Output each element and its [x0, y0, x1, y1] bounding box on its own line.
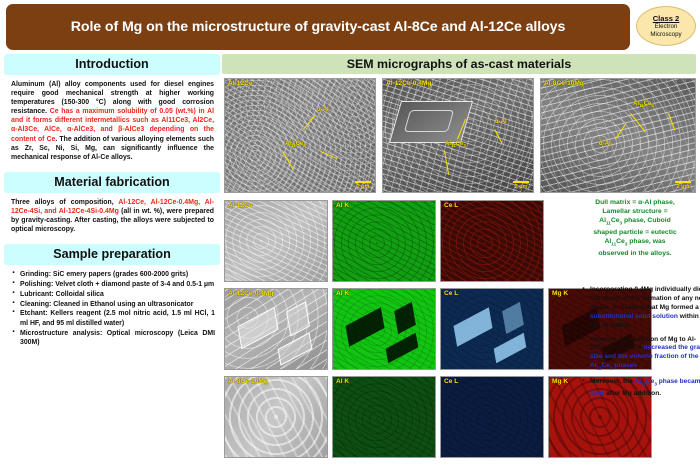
eds-map-label: Ce L — [444, 202, 458, 209]
micrograph-label: Al-12Ce — [228, 80, 253, 87]
annotation-al11ce3: Al11Ce3 — [285, 141, 306, 148]
eds-map-ce-l-row1: Ce L — [440, 200, 544, 282]
micrograph-al12ce: Al-12Ce α-Al Al11Ce3 2 µm — [224, 78, 376, 193]
annotation-alpha-al: α-Al — [495, 119, 507, 125]
micrograph-label: Al-8Ce-10Mg — [544, 80, 584, 87]
annotation-al11ce3: Al11Ce3 — [633, 101, 654, 108]
introduction-text: Aluminum (Al) alloy components used for … — [4, 80, 220, 162]
class-badge: Class 2 ElectronMicroscopy — [636, 6, 696, 46]
annotation-alpha-al: α-Al — [317, 107, 329, 113]
class-badge-subtitle: ElectronMicroscopy — [650, 23, 681, 38]
micrograph-al8ce-10mg: Al-8Ce-10Mg Al11Ce3 α-Al 2 µm — [540, 78, 696, 193]
scale-bar-line — [513, 181, 529, 183]
list-item: Microstructure analysis: Optical microsc… — [20, 329, 215, 348]
scale-bar-line — [355, 181, 371, 183]
eds-map-label: Mg K — [552, 290, 568, 297]
preparation-list: Grinding: SiC emery papers (grades 600-2… — [4, 270, 220, 347]
micrograph-grain — [225, 377, 327, 457]
micrograph-label: Al-12Ce-0.4Mg — [228, 290, 273, 297]
eds-map-ce-l-row3: Ce L — [440, 376, 544, 458]
list-item: Polishing: Velvet cloth + diamond paste … — [20, 280, 215, 289]
poster-title-bar: Role of Mg on the microstructure of grav… — [6, 4, 630, 50]
micrograph-label: Al-8Ce-10Mg — [228, 378, 268, 385]
list-item: Lubricant: Colloidal silica — [20, 290, 215, 299]
eds-texture — [332, 376, 436, 458]
page-title: Role of Mg on the microstructure of grav… — [71, 19, 566, 36]
eds-row1-sem: Al-12Ce — [224, 200, 328, 282]
class-badge-title: Class 2 — [653, 14, 680, 23]
sem-section-header: SEM micrographs of as-cast materials — [222, 54, 696, 74]
list-item: However, the addition of Mg to Al-12Ce a… — [590, 336, 700, 374]
micrograph-grain — [225, 79, 375, 192]
scale-bar-al12ce-04mg: 2 µm — [513, 181, 529, 190]
fabrication-text: Three alloys of composition, Al-12Ce, Al… — [4, 198, 220, 234]
micrograph-label: Al-12Ce-0.4Mg — [386, 80, 431, 87]
eds-map-label: Mg K — [552, 378, 568, 385]
eds-map-label: Al K — [336, 202, 349, 209]
eds-texture — [440, 376, 544, 458]
eds-map-al-k-row3: Al K — [332, 376, 436, 458]
list-item: Cleaning: Cleaned in Ethanol using an ul… — [20, 300, 215, 309]
list-item: Grinding: SiC emery papers (grades 600-2… — [20, 270, 215, 279]
conclusion-text: Dull matrix = α-Al phase, Lamellar struc… — [572, 198, 698, 258]
scale-bar-al8ce-10mg: 2 µm — [675, 181, 691, 190]
eds-row2-sem: Al-12Ce-0.4Mg — [224, 288, 328, 370]
list-item: Moreover, the Al11Ce3 phase became finer… — [590, 378, 700, 398]
introduction-heading: Introduction — [4, 54, 220, 75]
fabrication-heading: Material fabrication — [4, 172, 220, 193]
eds-texture — [332, 200, 436, 282]
scale-bar-line — [675, 181, 691, 183]
eds-map-al-k-row1: Al K — [332, 200, 436, 282]
preparation-heading: Sample preparation — [4, 244, 220, 265]
annotation-alpha-al: α-Al — [599, 141, 611, 147]
annotation-al11ce3: Al11Ce3 — [445, 141, 466, 148]
list-item: Incorporating 0.4Mg individually did not… — [590, 286, 700, 331]
eds-map-label: Ce L — [444, 378, 458, 385]
micrograph-label: Al-12Ce — [228, 202, 253, 209]
findings-list: Incorporating 0.4Mg individually did not… — [580, 286, 700, 404]
eds-texture — [440, 200, 544, 282]
scale-bar-al12ce: 2 µm — [355, 181, 371, 190]
cuboid-inner — [404, 110, 454, 132]
micrograph-grain — [225, 201, 327, 281]
list-item: Etchant: Kellers reagent (2.5 mol nitric… — [20, 309, 215, 328]
eds-row3-sem: Al-8Ce-10Mg — [224, 376, 328, 458]
sem-section-title: SEM micrographs of as-cast materials — [347, 57, 572, 71]
left-column: Introduction Aluminum (Al) alloy compone… — [4, 54, 220, 348]
eds-map-ce-l-row2: Ce L — [440, 288, 544, 370]
eds-map-label: Al K — [336, 378, 349, 385]
micrograph-al12ce-04mg: Al-12Ce-0.4Mg α-Al Al11Ce3 2 µm — [382, 78, 534, 193]
eds-map-label: Ce L — [444, 290, 458, 297]
poster-root: Role of Mg on the microstructure of grav… — [0, 0, 700, 467]
eds-map-al-k-row2: Al K — [332, 288, 436, 370]
eds-map-label: Al K — [336, 290, 349, 297]
